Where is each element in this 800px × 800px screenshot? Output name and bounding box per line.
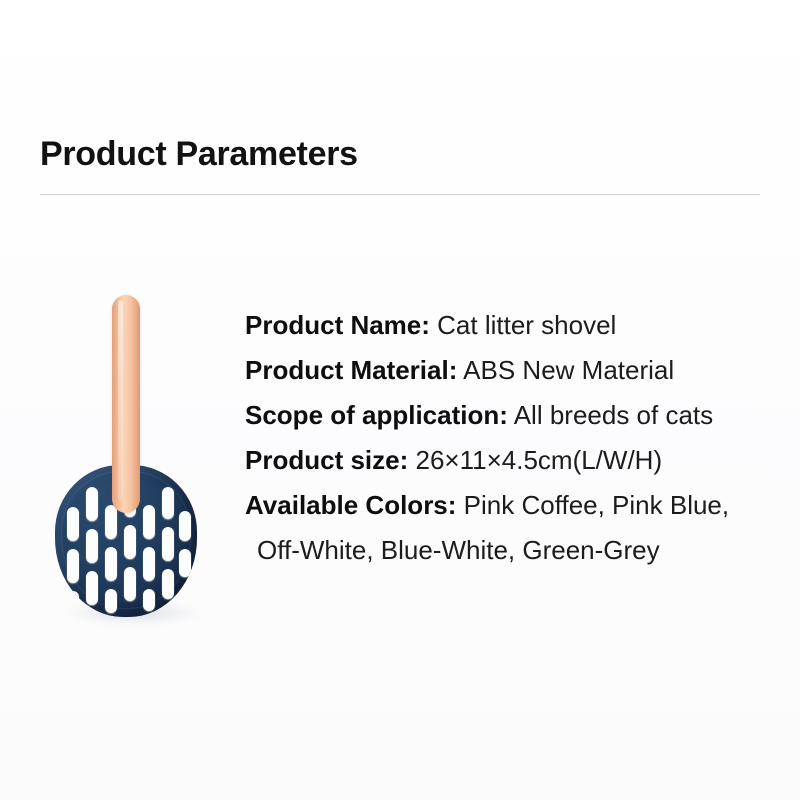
spec-row-available-colors-continued: Off-White, Blue-White, Green-Grey [245, 528, 790, 573]
page-title: Product Parameters [40, 132, 760, 176]
shovel-handle-highlight [118, 300, 123, 500]
spec-value: Cat litter shovel [437, 310, 616, 340]
product-image [30, 270, 240, 650]
spec-label: Product Name: [245, 310, 430, 340]
spec-label: Scope of application: [245, 400, 508, 430]
product-parameters-page: Product Parameters [0, 0, 800, 800]
spec-value: Pink Coffee, Pink Blue, [464, 490, 729, 520]
spec-row-available-colors: Available Colors: Pink Coffee, Pink Blue… [245, 483, 790, 528]
spec-list: Product Name: Cat litter shovel Product … [245, 303, 790, 573]
spec-value: Off-White, Blue-White, Green-Grey [257, 535, 660, 565]
spec-row-product-size: Product size: 26×11×4.5cm(L/W/H) [245, 438, 790, 483]
title-divider [40, 194, 760, 195]
spec-value: ABS New Material [463, 355, 674, 385]
spec-value: 26×11×4.5cm(L/W/H) [415, 445, 662, 475]
spec-row-product-material: Product Material: ABS New Material [245, 348, 790, 393]
spec-row-product-name: Product Name: Cat litter shovel [245, 303, 790, 348]
spec-label: Product Material: [245, 355, 457, 385]
spec-label: Product size: [245, 445, 408, 475]
spec-label: Available Colors: [245, 490, 456, 520]
shovel-handle [112, 295, 140, 513]
spec-row-scope-of-application: Scope of application: All breeds of cats [245, 393, 790, 438]
header-block: Product Parameters [40, 132, 760, 195]
spec-value: All breeds of cats [514, 400, 713, 430]
